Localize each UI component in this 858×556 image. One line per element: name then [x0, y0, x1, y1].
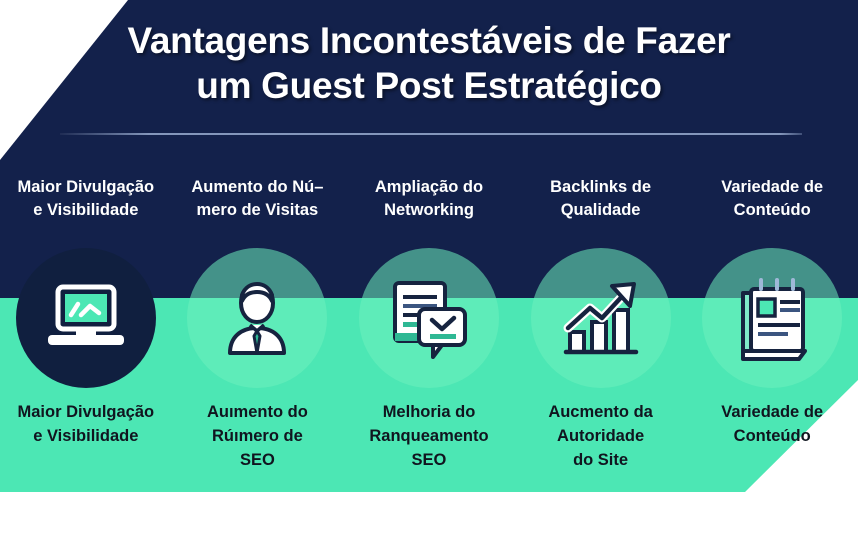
bottom-label-4-line1: Aucmento da [548, 403, 653, 421]
top-label-2: Aumento do Nú– mero de Visitas [172, 176, 344, 222]
bottom-label-3-line1: Melhoria do [383, 403, 476, 421]
laptop-chart-icon [40, 279, 132, 357]
bottom-label-5: Variedade de Conteúdo [686, 400, 858, 448]
circle-background-3 [359, 248, 499, 388]
bottom-label-4: Aucmento da Autoridade do Site [515, 400, 687, 472]
bottom-label-4-line3: do Site [573, 451, 628, 469]
circle-background-5 [702, 248, 842, 388]
icon-circle-4 [531, 248, 671, 388]
top-label-4-line1: Backlinks de [550, 178, 651, 196]
top-label-5-line2: Conteúdo [734, 201, 811, 219]
icon-circle-5 [702, 248, 842, 388]
title-divider [60, 133, 802, 135]
top-label-3-line1: Ampliação do [375, 178, 483, 196]
bottom-label-3-line3: SEO [412, 451, 447, 469]
top-label-5: Variedade de Conteúdo [686, 176, 858, 222]
bar-chart-growth-arrow-icon [556, 276, 646, 360]
top-label-4: Backlinks de Qualidade [515, 176, 687, 222]
bottom-label-1-line1: Maior Divulgação [17, 403, 154, 421]
person-tie-icon [214, 275, 300, 361]
circle-background-2 [187, 248, 327, 388]
circle-background-4 [531, 248, 671, 388]
title-line-1: Vantagens Incontestáveis de Fazer [0, 18, 858, 63]
bottom-label-5-line2: Conteúdo [734, 427, 811, 445]
page-title: Vantagens Incontestáveis de Fazer um Gue… [0, 18, 858, 108]
top-label-3-line2: Networking [384, 201, 474, 219]
circle-background-1 [16, 248, 156, 388]
top-label-3: Ampliação do Networking [343, 176, 515, 222]
top-label-1: Maior Divulgação e Visibilidade [0, 176, 172, 222]
bottom-label-5-line1: Variedade de [721, 403, 823, 421]
bottom-label-2-line1: Auımento do [207, 403, 308, 421]
infographic-canvas: Vantagens Incontestáveis de Fazer um Gue… [0, 0, 858, 556]
top-label-4-line2: Qualidade [561, 201, 641, 219]
top-label-2-line2: mero de Visitas [197, 201, 319, 219]
top-label-5-line1: Variedade de [721, 178, 823, 196]
bottom-label-2-line2: Rúımero de [212, 427, 303, 445]
top-label-1-line2: e Visibilidade [33, 201, 138, 219]
bottom-label-2: Auımento do Rúımero de SEO [172, 400, 344, 472]
bottom-label-3: Melhoria do Ranqueamento SEO [343, 400, 515, 472]
bottom-label-1: Maior Divulgação e Visibilidade [0, 400, 172, 448]
top-label-2-line1: Aumento do Nú– [191, 178, 323, 196]
bottom-label-3-line2: Ranqueamento [369, 427, 488, 445]
document-chat-check-icon [383, 275, 475, 361]
bottom-label-2-line3: SEO [240, 451, 275, 469]
icon-circle-2 [187, 248, 327, 388]
bottom-label-1-line2: e Visibilidade [33, 427, 138, 445]
bottom-label-4-line2: Autoridade [557, 427, 644, 445]
icon-circle-3 [359, 248, 499, 388]
top-label-1-line1: Maior Divulgação [17, 178, 154, 196]
spiral-notebook-icon [727, 275, 817, 361]
icon-circle-1 [16, 248, 156, 388]
title-line-2: um Guest Post Estratégico [0, 63, 858, 108]
